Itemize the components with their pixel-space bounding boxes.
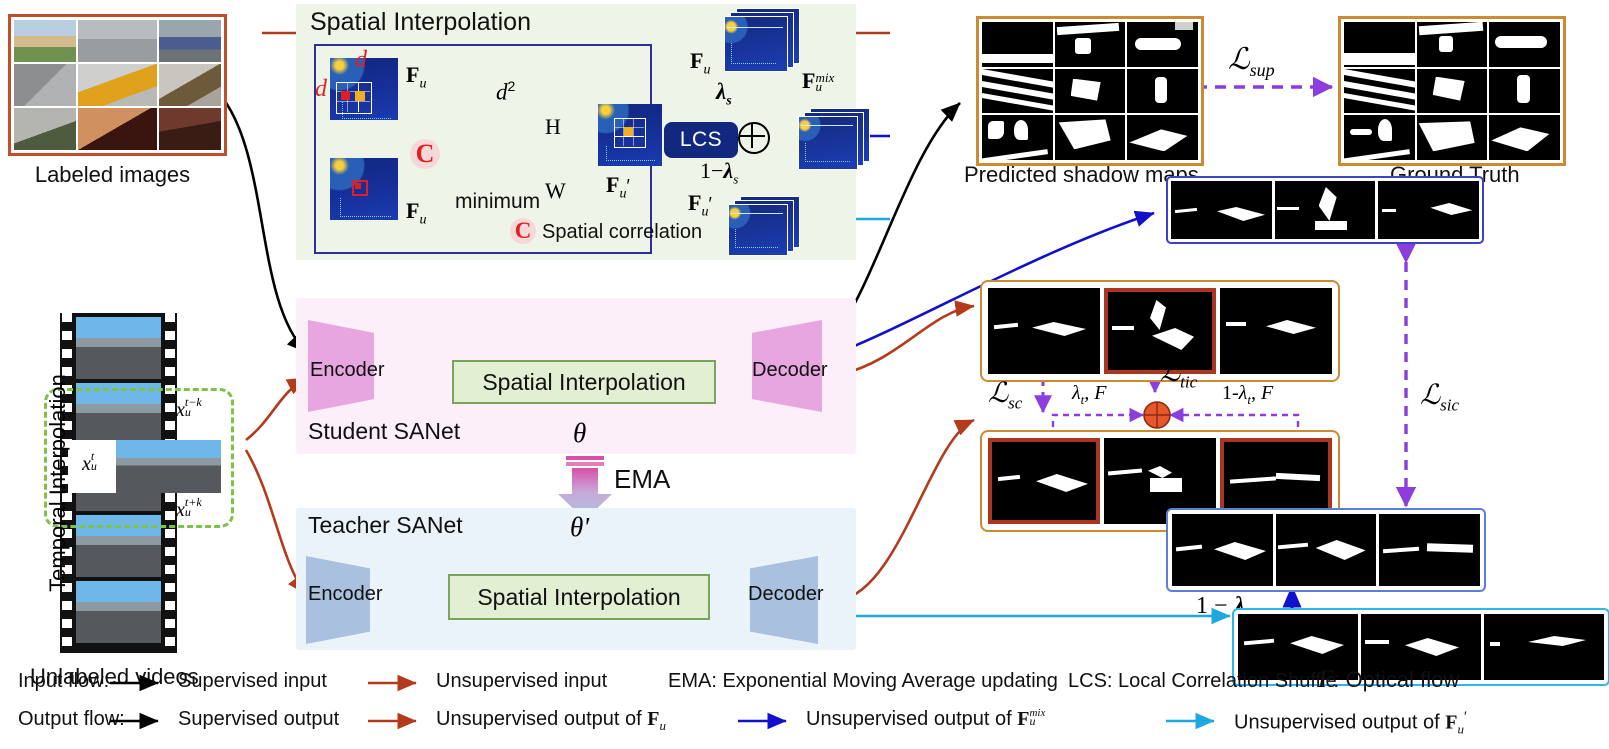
student-sanet-title: Student SANet	[308, 418, 460, 445]
legend-arrow-red-input	[368, 674, 428, 692]
lambda-t-F-label-left: λt, F	[1072, 382, 1107, 408]
student-spatial-interpolation-block[interactable]: Spatial Interpolation	[452, 360, 716, 404]
labeled-image-tile	[14, 64, 76, 106]
ground-truth-tile	[1417, 115, 1488, 160]
legend-arrow-cyan-output	[1166, 712, 1226, 730]
student-encoder-label: Encoder	[310, 359, 385, 382]
shadow-map-tile	[1127, 115, 1198, 160]
feature-map-fu-prime	[598, 104, 662, 166]
legend-lcs-note: LCS: Local Correlation Shuffle	[1068, 670, 1337, 693]
minimum-label: minimum	[455, 190, 540, 214]
fu-feature-stack	[724, 8, 800, 68]
fu-label-top: Fu	[406, 62, 426, 92]
lambda-s-label-top: λs	[716, 78, 732, 110]
theta-prime-label: θ'	[570, 512, 589, 543]
mix-plus-icon	[738, 122, 770, 154]
fu-prime-label-inner: Fu′	[606, 172, 630, 202]
legend-ema-note: EMA: Exponential Moving Average updating	[668, 670, 1058, 693]
legend-output-flow-label: Output flow:	[18, 708, 125, 731]
ground-truth-tile	[1489, 115, 1560, 160]
theta-label: θ	[573, 418, 586, 449]
ground-truth-tile	[1417, 69, 1488, 114]
legend-optical-flow-note: F: Optical flow	[1318, 666, 1459, 694]
teacher-encoder-label: Encoder	[308, 583, 383, 606]
loss-sup-label: ℒsup	[1228, 42, 1275, 81]
shadow-map-tile	[982, 22, 1053, 67]
shadow-map-tile	[1055, 22, 1126, 67]
labeled-image-tile	[78, 108, 156, 150]
lambda-t-F-label-right: 1-λt, F	[1222, 382, 1273, 408]
legend-unsup-output-fu: Unsupervised output of Fu	[436, 708, 666, 734]
legend-unsup-output-fprime: Unsupervised output of Fu′	[1234, 708, 1467, 738]
blue-framed-output-row	[1166, 176, 1484, 244]
labeled-image-tile	[14, 108, 76, 150]
shadow-frame-tile	[1379, 514, 1480, 586]
one-minus-lambda-s-label: 1−λs	[700, 158, 738, 187]
labeled-image-tile	[159, 20, 221, 62]
legend-unsupervised-input-label: Unsupervised input	[436, 670, 607, 693]
labeled-image-tile	[78, 64, 156, 106]
labeled-image-tile	[159, 64, 221, 106]
legend-supervised-output-label: Supervised output	[178, 708, 339, 731]
loss-sc-label: ℒsc	[988, 376, 1022, 414]
shadow-frame-tile-highlighted	[988, 438, 1100, 524]
shadow-map-tile	[982, 69, 1053, 114]
fu-prime-feature-stack	[728, 196, 800, 254]
legend-arrow-black-input	[110, 674, 170, 692]
predicted-shadow-maps-frame	[976, 16, 1204, 166]
fu-prime-label-stack: Fu′	[688, 190, 712, 220]
shadow-frame-tile	[1275, 181, 1376, 239]
w-label: W	[545, 178, 566, 204]
teacher-spatial-interpolation-label: Spatial Interpolation	[477, 584, 680, 611]
spatial-correlation-legend-label: Spatial correlation	[542, 221, 702, 244]
labeled-image-tile	[14, 20, 76, 62]
d-squared-label: d2	[496, 78, 515, 106]
shadow-map-tile	[1055, 115, 1126, 160]
h-label: H	[545, 114, 561, 140]
labeled-images-frame	[8, 14, 227, 156]
frame-label-current: x t u	[82, 452, 97, 476]
spatial-correlation-legend-icon: C	[510, 218, 536, 244]
shadow-map-tile	[1127, 22, 1198, 67]
ground-truth-tile	[1344, 69, 1415, 114]
feature-map-fu-bottom	[330, 158, 398, 220]
shadow-frame-tile	[1172, 514, 1273, 586]
teacher-sanet-title: Teacher SANet	[308, 512, 463, 539]
labeled-images-caption: Labeled images	[10, 162, 215, 188]
shadow-map-tile	[982, 115, 1053, 160]
mix-output-row-blue	[1166, 508, 1486, 592]
ground-truth-tile	[1489, 69, 1560, 114]
shadow-frame-tile	[1276, 514, 1377, 586]
temporal-interpolation-label: Temporal Interpolation	[45, 363, 71, 603]
shadow-map-tile	[1055, 69, 1126, 114]
loss-tic-label: ℒtic	[1160, 355, 1197, 393]
lcs-block: LCS	[664, 122, 738, 158]
loss-sic-label: ℒsic	[1420, 378, 1459, 416]
fu-mix-label: F mix u	[802, 68, 834, 94]
spatial-interpolation-title: Spatial Interpolation	[310, 8, 531, 37]
d-label-vertical: d	[315, 76, 327, 103]
shadow-frame-tile	[1220, 288, 1332, 374]
legend: Input flow: Supervised input Unsupervise…	[18, 664, 1598, 744]
teacher-spatial-interpolation-block[interactable]: Spatial Interpolation	[448, 574, 710, 620]
student-spatial-interpolation-label: Spatial Interpolation	[482, 369, 685, 396]
fu-mix-feature-stack	[798, 108, 870, 168]
spatial-correlation-icon: C	[410, 139, 440, 169]
legend-arrow-red-output	[368, 712, 428, 730]
predicted-shadow-maps-caption: Predicted shadow maps	[964, 162, 1199, 188]
student-decoder-label: Decoder	[752, 359, 828, 382]
shadow-frame-tile	[1171, 181, 1272, 239]
d-label-horizontal: d	[355, 47, 367, 74]
teacher-decoder-label: Decoder	[748, 583, 824, 606]
ground-truth-tile	[1344, 115, 1415, 160]
shadow-frame-tile	[988, 288, 1100, 374]
legend-arrow-blue-output	[738, 712, 798, 730]
fu-label-bottom: Fu	[406, 198, 426, 228]
frame-label-prev: x t−k u	[176, 398, 202, 422]
fu-label-stack: Fu	[690, 48, 710, 78]
legend-supervised-input-label: Supervised input	[178, 670, 327, 693]
ground-truth-frame	[1338, 16, 1566, 166]
ema-label: EMA	[614, 464, 670, 495]
shadow-map-tile	[1127, 69, 1198, 114]
ground-truth-tile	[1489, 22, 1560, 67]
legend-input-flow-label: Input flow:	[18, 670, 109, 693]
frame-label-next: x t+k u	[176, 498, 202, 522]
ground-truth-tile	[1344, 22, 1415, 67]
labeled-image-tile	[159, 108, 221, 150]
ground-truth-tile	[1417, 22, 1488, 67]
legend-unsup-output-fmix: Unsupervised output of F mix u	[806, 708, 1045, 731]
shadow-frame-tile	[1378, 181, 1479, 239]
labeled-image-tile	[78, 20, 156, 62]
